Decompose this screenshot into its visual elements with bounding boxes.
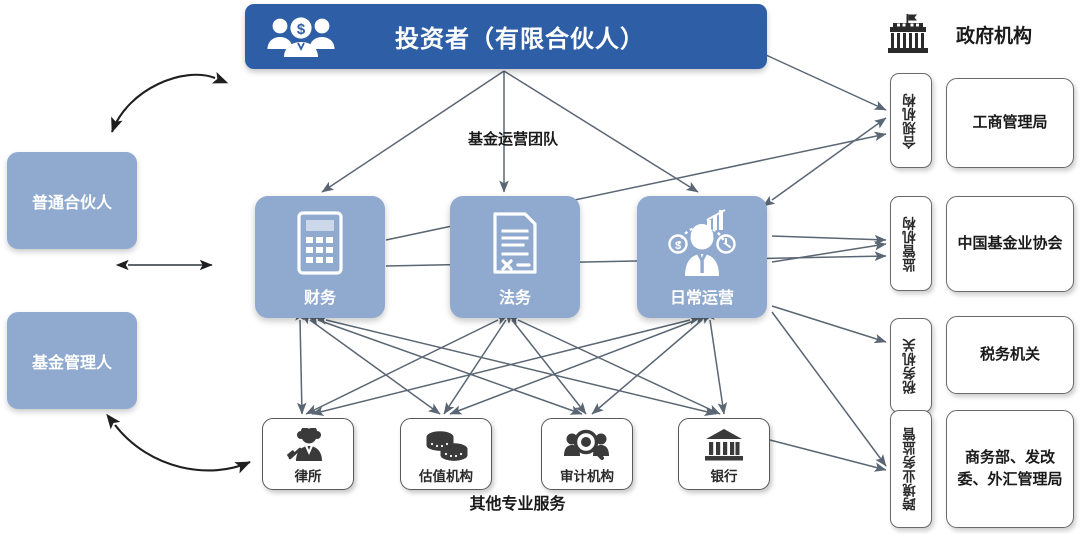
wire-bank-crossborder [770, 440, 886, 470]
wire-finance-lawfirm [300, 320, 302, 414]
agency-box-industry-commerce[interactable]: 工商管理局 [946, 78, 1074, 168]
agency-box-mofcom-ndrc-safe[interactable]: 商务部、发改委、外汇管理局 [946, 410, 1074, 528]
team-box-finance[interactable]: 财务 [255, 196, 385, 318]
team-label-daily-operations: 日常运营 [670, 284, 734, 308]
agency-label-0: 工商管理局 [972, 112, 1047, 134]
team-box-legal[interactable]: 法务 [450, 196, 580, 318]
wire-finance-valuation [310, 320, 440, 414]
government-header: 政府机构 [884, 8, 1074, 60]
diagram-canvas: $ 投资者（有限合伙人） 普通合伙人 基金管理人 基金运营团队 [0, 0, 1080, 534]
team-box-daily-operations[interactable]: $ 日常运营 [637, 196, 767, 318]
services-caption: 其他专业服务 [400, 490, 635, 514]
agency-label-1: 中国基金业协会 [957, 233, 1062, 255]
audit-magnifier-people-icon [563, 424, 611, 462]
gov-tag-regulator[interactable]: 监管机构 [890, 196, 932, 291]
agency-label-3: 商务部、发改委、外汇管理局 [955, 447, 1065, 491]
agency-box-amac[interactable]: 中国基金业协会 [946, 196, 1074, 292]
wire-ops-lawfirm [312, 320, 690, 414]
left-box-general-partner[interactable]: 普通合伙人 [7, 152, 137, 249]
wire-ops-tax [772, 306, 886, 342]
service-box-audit[interactable]: 审计机构 [541, 418, 633, 490]
svg-text:$: $ [675, 240, 681, 252]
svg-text:$: $ [297, 21, 306, 38]
wire-manager-services [115, 425, 250, 470]
gov-tag-label-1: 监管机构 [901, 216, 921, 272]
wire-ops-compliance [772, 118, 886, 200]
gov-tag-label-0: 合规机构 [901, 93, 921, 149]
document-contract-icon [491, 204, 539, 282]
gov-tag-label-3: 跨境业务监管 [901, 427, 921, 511]
wire-ops-regulator [772, 236, 886, 240]
operations-manager-icon: $ [663, 204, 741, 282]
team-label-legal: 法务 [499, 284, 531, 308]
wire-ops-valuation [450, 320, 696, 414]
wire-ops-bank [710, 320, 724, 414]
investor-banner[interactable]: $ 投资者（有限合伙人） [245, 4, 767, 69]
investor-title: 投资者（有限合伙人） [339, 19, 767, 54]
calculator-icon [297, 204, 343, 282]
service-label-audit: 审计机构 [560, 465, 614, 485]
lawyer-gavel-icon [286, 424, 330, 462]
general-partner-label: 普通合伙人 [32, 189, 112, 213]
wire-legal-bank [518, 320, 720, 414]
fund-team-caption: 基金运营团队 [448, 128, 578, 149]
wire-legal-valuation [444, 320, 506, 414]
gov-tag-cross-border[interactable]: 跨境业务监管 [890, 410, 932, 528]
left-box-fund-manager[interactable]: 基金管理人 [7, 312, 137, 409]
service-label-law-firm: 律所 [295, 465, 322, 485]
fund-manager-label: 基金管理人 [32, 349, 112, 373]
investor-group-money-icon: $ [263, 14, 339, 60]
coins-stack-icon [423, 424, 469, 462]
wire-finance-bank [326, 320, 716, 414]
agency-label-2: 税务机关 [980, 344, 1040, 366]
wire-investor-compliance [766, 55, 886, 110]
gov-tag-tax[interactable]: 税务机关 [890, 318, 932, 413]
service-box-valuation[interactable]: 估值机构 [400, 418, 492, 490]
bank-building-icon [705, 424, 743, 462]
government-building-flag-icon [884, 12, 932, 56]
service-box-law-firm[interactable]: 律所 [262, 418, 354, 490]
gov-tag-label-2: 税务机关 [901, 338, 921, 394]
wire-legal-lawfirm [306, 320, 498, 414]
government-title: 政府机构 [956, 21, 1032, 48]
wire-finance-audit [318, 320, 582, 414]
service-label-valuation: 估值机构 [419, 465, 473, 485]
wire-legal-audit [512, 320, 586, 414]
wire-ops-audit [592, 320, 702, 414]
agency-box-tax-authority[interactable]: 税务机关 [946, 316, 1074, 394]
team-label-finance: 财务 [304, 284, 336, 308]
service-label-bank: 银行 [711, 465, 738, 485]
wire-gp-investor [112, 75, 215, 132]
service-box-bank[interactable]: 银行 [678, 418, 770, 490]
wire-ops-crossborder [772, 312, 886, 466]
gov-tag-compliance[interactable]: 合规机构 [890, 73, 932, 168]
wire-ops-regulator-2 [772, 244, 886, 262]
